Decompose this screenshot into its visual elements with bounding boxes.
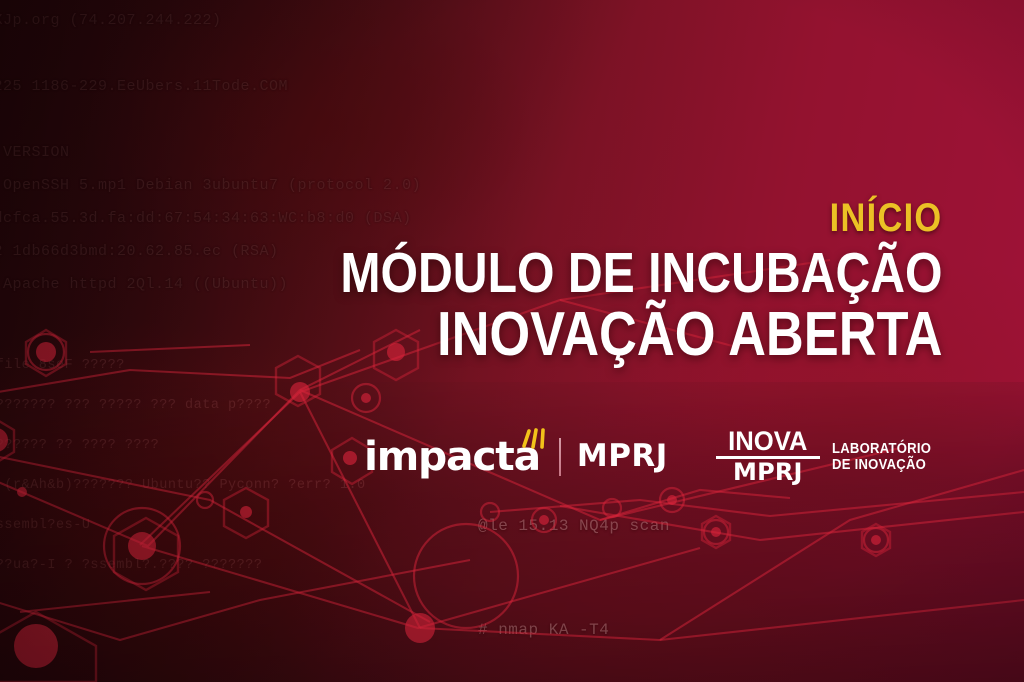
- inova-tagline-line-2: DE INOVAÇÃO: [832, 457, 931, 473]
- background-keyboard-band: [0, 382, 1024, 682]
- spark-lines-icon: [520, 428, 550, 452]
- mprj-wordmark: MPRJ: [577, 441, 668, 472]
- title-line-1: MÓDULO DE INCUBAÇÃO: [340, 244, 942, 302]
- inova-wordmark: INOVA: [728, 428, 807, 454]
- inova-mprj-logo: INOVA MPRJ LABORATÓRIO DE INOVAÇÃO: [716, 428, 942, 485]
- presentation-slide: nXJp.org (74.207.244.222) 2225 1186-229.…: [0, 0, 1024, 682]
- inova-tagline: LABORATÓRIO DE INOVAÇÃO: [832, 441, 931, 473]
- inova-tagline-line-1: LABORATÓRIO: [832, 441, 931, 457]
- inova-mprj-stack: INOVA MPRJ: [716, 428, 820, 485]
- headline-block: INÍCIO MÓDULO DE INCUBAÇÃO INOVAÇÃO ABER…: [230, 196, 942, 366]
- impacta-wordmark: impacta: [364, 437, 540, 477]
- impacta-logo: impacta: [364, 437, 536, 477]
- title-line-2: INOVAÇÃO ABERTA: [340, 304, 942, 366]
- logo-divider: [559, 438, 561, 476]
- kicker-inicio: INÍCIO: [329, 196, 942, 240]
- inova-mprj-wordmark: MPRJ: [733, 460, 803, 485]
- logo-row: impacta MPRJ INOVA MPRJ LABORATÓRIO: [364, 428, 942, 485]
